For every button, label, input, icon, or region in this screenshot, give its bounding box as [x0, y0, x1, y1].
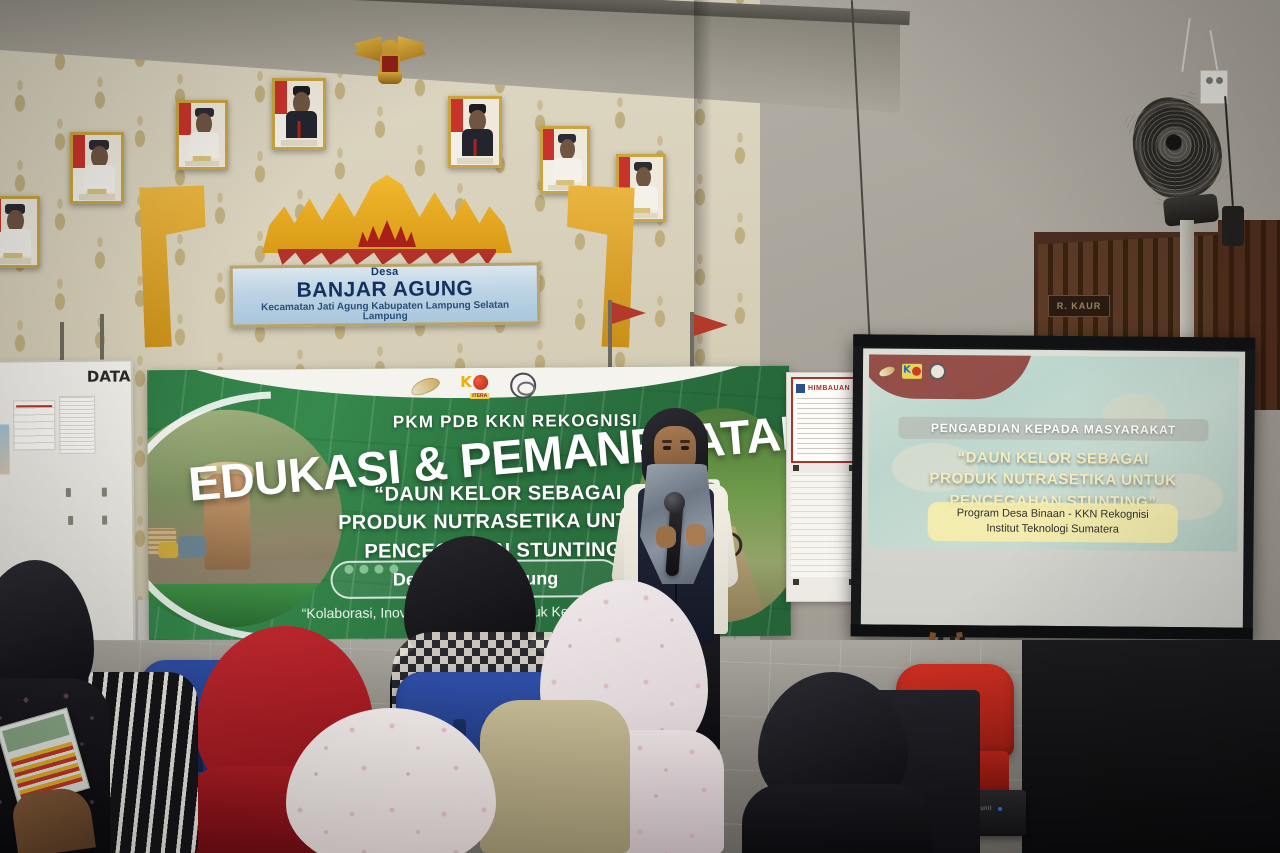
microphone-head — [664, 492, 685, 513]
vice-president-portrait — [448, 96, 502, 168]
slide-footer-line1: Program Desa Binaan - KKN Rekognisi — [934, 506, 1172, 524]
itera-leaf-logo — [409, 374, 442, 398]
itera-leaf-logo — [878, 364, 896, 377]
attendee-dark-hijab-far-right — [752, 672, 922, 853]
whiteboard-magnet — [68, 516, 73, 525]
official-portrait-4 — [540, 126, 590, 194]
kkn-itera-logo — [902, 364, 922, 379]
slide-band: PENGABDIAN KEPADA MASYARAKAT — [898, 417, 1208, 442]
whiteboard-letter-document — [59, 396, 96, 454]
flag-pole-2 — [690, 312, 694, 372]
presentation-slide: PENGABDIAN KEPADA MASYARAKAT “DAUN KELOR… — [867, 354, 1239, 551]
siger-lampung-crown — [262, 175, 512, 270]
projection-screen: PENGABDIAN KEPADA MASYARAKAT “DAUN KELOR… — [851, 334, 1256, 639]
kkn-itera-logo: KITERA — [460, 374, 490, 398]
slide-footer: Program Desa Binaan - KKN Rekognisi Inst… — [928, 502, 1178, 543]
official-portrait-2 — [70, 132, 124, 204]
institution-seal-logo — [510, 373, 536, 399]
slide-band-title: PENGABDIAN KEPADA MASYARAKAT — [931, 421, 1176, 437]
fan-mounting-post — [1180, 220, 1194, 340]
slide-footer-line2: Institut Teknologi Sumatera — [934, 521, 1172, 539]
electrical-box — [1222, 206, 1244, 246]
whiteboard-photo — [0, 424, 10, 474]
attendee-white-floral-hijab — [286, 708, 506, 853]
whiteboard-magnet — [102, 516, 107, 525]
projector-led-indicator — [998, 807, 1002, 811]
notice-document — [791, 473, 859, 577]
institution-seal-logo — [929, 363, 946, 380]
official-portrait-3 — [176, 100, 228, 170]
himbauan-poster-title: HIMBAUAN — [808, 385, 850, 392]
village-sign-line4: Lampung — [363, 312, 408, 323]
slide-logo-row — [879, 362, 946, 380]
himbauan-poster: HIMBAUAN — [791, 377, 859, 463]
office-room-sign: R. KAUR — [1048, 295, 1110, 317]
garuda-pancasila-emblem — [356, 30, 424, 90]
official-portrait-1 — [0, 196, 40, 268]
president-portrait — [272, 78, 326, 150]
whiteboard-table-document — [13, 400, 55, 450]
projection-surface: PENGABDIAN KEPADA MASYARAKAT “DAUN KELOR… — [861, 348, 1245, 627]
photo-scene: Desa BANJAR AGUNG Kecamatan Jati Agung K… — [0, 0, 1280, 853]
whiteboard-heading: DATA — [87, 367, 131, 385]
whiteboard-magnet — [66, 488, 71, 497]
dark-covered-equipment — [1022, 640, 1280, 853]
whiteboard-magnet — [102, 488, 107, 497]
village-sign-line2: BANJAR AGUNG — [296, 278, 473, 302]
village-name-sign: Desa BANJAR AGUNG Kecamatan Jati Agung K… — [230, 262, 541, 327]
flag-pole-1 — [608, 300, 612, 370]
banner-logo-row: KITERA — [383, 371, 563, 400]
